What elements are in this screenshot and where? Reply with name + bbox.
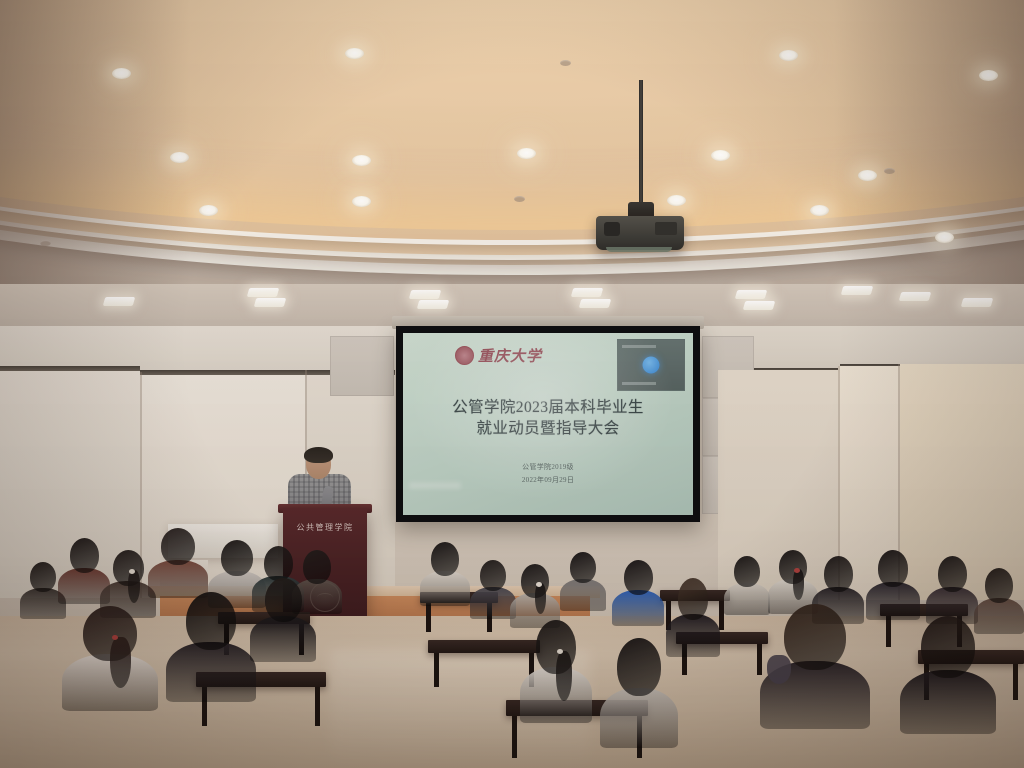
projector-base [606, 247, 672, 252]
audience-member-head [186, 592, 236, 650]
led-panel-light-icon [579, 299, 612, 308]
smoke-detector-icon [514, 196, 525, 202]
audience-member [560, 552, 606, 604]
led-panel-light-icon [103, 297, 136, 306]
led-panel-light-icon [254, 298, 287, 307]
audience-member-torso [866, 582, 920, 620]
audience-member-torso [250, 616, 316, 662]
video-conference-panel [617, 339, 685, 391]
audience-member-ponytail [535, 583, 546, 614]
university-name: 重庆大学 [478, 345, 542, 366]
video-conference-avatar-icon [643, 357, 660, 374]
wall-trim-rail-left [0, 366, 140, 371]
audience-member-ponytail [128, 570, 140, 603]
audience-member [420, 542, 470, 598]
audience-member [926, 556, 978, 616]
desk-leg [426, 603, 431, 632]
smoke-detector-icon [884, 168, 895, 174]
recessed-downlight-icon [352, 155, 371, 166]
recessed-downlight-icon [352, 196, 371, 207]
led-panel-light-icon [409, 290, 442, 299]
audience-member-hairtie [794, 568, 800, 573]
desk-leg [886, 616, 891, 647]
smoke-detector-icon [40, 240, 51, 246]
audience-member [866, 550, 920, 612]
audience-member-torso [600, 688, 678, 748]
audience-member-head [30, 562, 56, 592]
led-panel-light-icon [417, 300, 450, 309]
audience-member-torso [612, 590, 664, 626]
projector-mount-pole [639, 80, 643, 210]
audience-member-hairtie [129, 569, 135, 574]
audience-member [760, 604, 870, 714]
audience-member-head [624, 560, 653, 595]
audience-member-head [264, 546, 293, 581]
desk-leg [315, 687, 320, 726]
audience-member [768, 550, 818, 606]
university-seal-icon [455, 346, 474, 365]
desk-leg [434, 653, 439, 687]
recessed-downlight-icon [170, 152, 189, 163]
audience-member-head [784, 604, 846, 670]
wall-slab-upper-left [330, 336, 394, 396]
audience-member-head [734, 556, 760, 587]
recessed-downlight-icon [667, 195, 686, 206]
led-panel-light-icon [735, 290, 768, 299]
recessed-downlight-icon [779, 50, 798, 61]
recessed-downlight-icon [979, 70, 998, 81]
recessed-downlight-icon [345, 48, 364, 59]
ceiling-shadow-left [0, 0, 190, 300]
vc-top-bar [622, 345, 656, 348]
recessed-downlight-icon [112, 68, 131, 79]
audience-member-ponytail [110, 637, 131, 688]
audience-member-head [878, 550, 908, 587]
projector-vent [655, 222, 677, 235]
audience-member [166, 592, 256, 688]
desk-leg [1013, 664, 1018, 700]
recessed-downlight-icon [858, 170, 877, 181]
audience-member [520, 620, 592, 710]
audience-member [612, 560, 664, 618]
audience-member-ponytail [793, 569, 804, 600]
audience-member-torso [560, 579, 606, 611]
screen-glare [409, 482, 461, 489]
led-panel-light-icon [247, 288, 280, 297]
desk-leg [512, 716, 517, 758]
ceiling-shadow-right [834, 0, 1024, 300]
slide-title-line-2: 就业动员暨指导大会 [403, 418, 693, 439]
audience-member-head [70, 538, 99, 573]
recessed-downlight-icon [810, 205, 829, 216]
audience-member-head [824, 556, 853, 592]
audience-area [0, 520, 1024, 768]
face-mask-icon [767, 655, 791, 684]
recessed-downlight-icon [199, 205, 218, 216]
audience-member-head [431, 542, 459, 576]
projection-screen: 重庆大学 公管学院2023届本科毕业生 就业动员暨指导大会 公管学院2019级 … [396, 326, 700, 522]
audience-member-head [570, 552, 596, 583]
vc-bottom-bar [622, 382, 656, 385]
led-panel-light-icon [571, 288, 604, 297]
slide-subtitle-line-1: 公管学院2019级 [403, 461, 693, 474]
audience-member [62, 606, 158, 698]
audience-member-torso [420, 571, 470, 606]
audience-member-hairtie [112, 635, 118, 640]
led-panel-light-icon [961, 298, 994, 307]
slide-title: 公管学院2023届本科毕业生 就业动员暨指导大会 [403, 397, 693, 439]
audience-member-torso [166, 642, 256, 702]
recessed-downlight-icon [517, 148, 536, 159]
audience-member-head [678, 578, 708, 620]
audience-member-head [161, 528, 195, 565]
audience-member-hairtie [536, 582, 542, 587]
audience-member-head [921, 616, 975, 678]
led-panel-light-icon [899, 292, 932, 301]
audience-member [600, 638, 678, 734]
slide-title-line-1: 公管学院2023届本科毕业生 [403, 397, 693, 418]
university-logo: 重庆大学 [455, 345, 542, 366]
audience-member [724, 556, 770, 608]
audience-member-hairtie [557, 649, 563, 654]
audience-member-torso [900, 670, 996, 734]
audience-member-head [985, 568, 1013, 603]
audience-member-head [480, 560, 506, 591]
audience-member-head [938, 556, 967, 592]
ceiling [0, 0, 1024, 300]
audience-member-head [221, 540, 253, 576]
audience-member-head [265, 578, 302, 622]
lecture-hall-photo: 重庆大学 公管学院2023届本科毕业生 就业动员暨指导大会 公管学院2019级 … [0, 0, 1024, 768]
smoke-detector-icon [560, 60, 571, 66]
speaker-hair [304, 447, 333, 463]
slide-surface: 重庆大学 公管学院2023届本科毕业生 就业动员暨指导大会 公管学院2019级 … [403, 333, 693, 515]
audience-member [250, 578, 316, 652]
audience-member [510, 564, 560, 620]
led-panel-light-icon [841, 286, 874, 295]
projector-lens-icon [604, 222, 620, 236]
audience-member [148, 528, 208, 590]
led-panel-light-icon [743, 301, 776, 310]
audience-member [900, 616, 996, 720]
audience-member-ponytail [556, 651, 572, 701]
audience-member-head [617, 638, 661, 696]
recessed-downlight-icon [711, 150, 730, 161]
recessed-downlight-icon [935, 232, 954, 243]
